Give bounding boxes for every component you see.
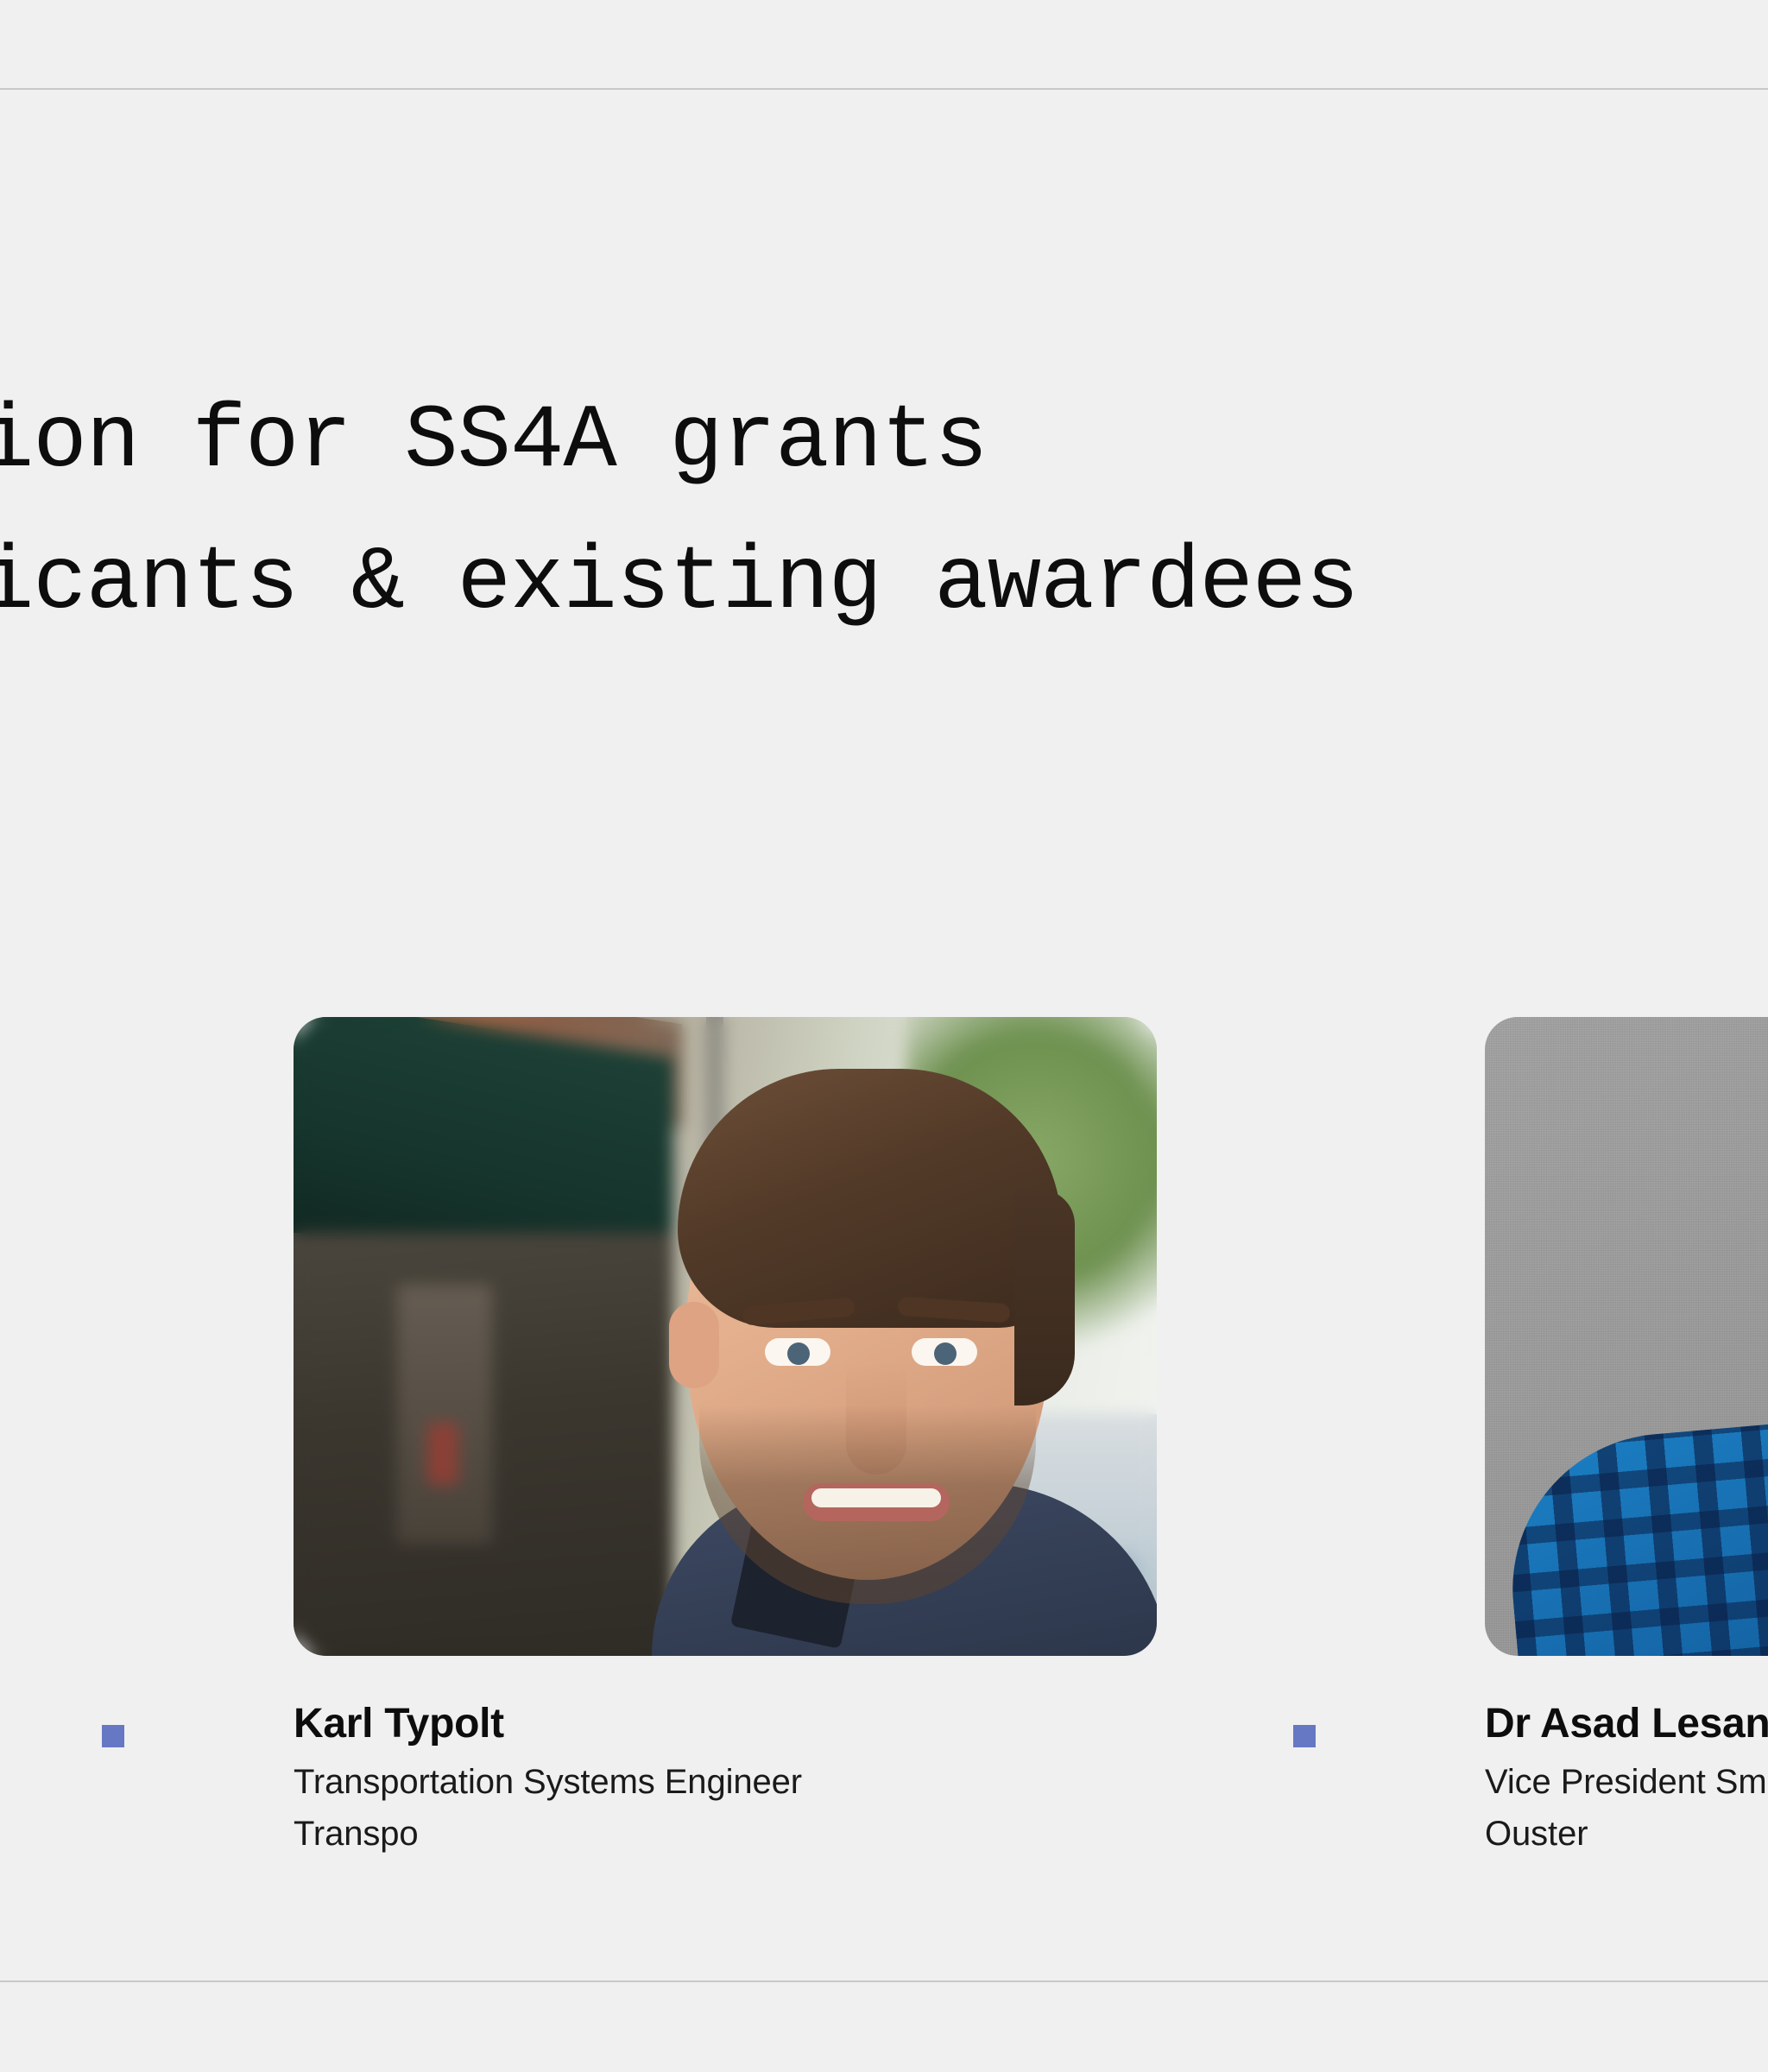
speaker-role: Vice President Smart Infrastructure xyxy=(1485,1756,1768,1808)
speaker-photo-karl-typolt xyxy=(294,1017,1157,1656)
speaker-name: Karl Typolt xyxy=(294,1697,1157,1751)
square-bullet-icon xyxy=(102,1725,124,1747)
speaker-role: Transportation Systems Engineer xyxy=(294,1756,1157,1808)
speaker-caption: Karl Typolt Transportation Systems Engin… xyxy=(294,1697,1157,1860)
event-page: Lidar detection for SS4A grants for new … xyxy=(0,0,1768,2072)
bottom-divider xyxy=(0,1980,1768,1982)
speaker-card[interactable]: Dr Asad Lesani Vice President Smart Infr… xyxy=(1485,1017,1768,1898)
speaker-card[interactable]: Karl Typolt Transportation Systems Engin… xyxy=(294,1017,1157,1898)
speaker-name: Dr Asad Lesani xyxy=(1485,1697,1768,1751)
page-title-line-1: Lidar detection for SS4A grants xyxy=(0,371,1768,513)
speaker-org: Ouster xyxy=(1485,1808,1768,1860)
event-time: 11:00 AM EDT xyxy=(0,749,760,812)
speaker-caption: Dr Asad Lesani Vice President Smart Infr… xyxy=(1485,1697,1768,1860)
speakers-list: Karl Typolt Transportation Systems Engin… xyxy=(0,1017,1768,1898)
page-title-line-2: for new applicants & existing awardees xyxy=(0,513,1768,654)
top-divider xyxy=(0,88,1768,90)
page-title: Lidar detection for SS4A grants for new … xyxy=(0,371,1768,654)
square-bullet-icon xyxy=(1293,1725,1316,1747)
speaker-org: Transpo xyxy=(294,1808,1157,1860)
speaker-photo-asad-lesani xyxy=(1485,1017,1768,1656)
